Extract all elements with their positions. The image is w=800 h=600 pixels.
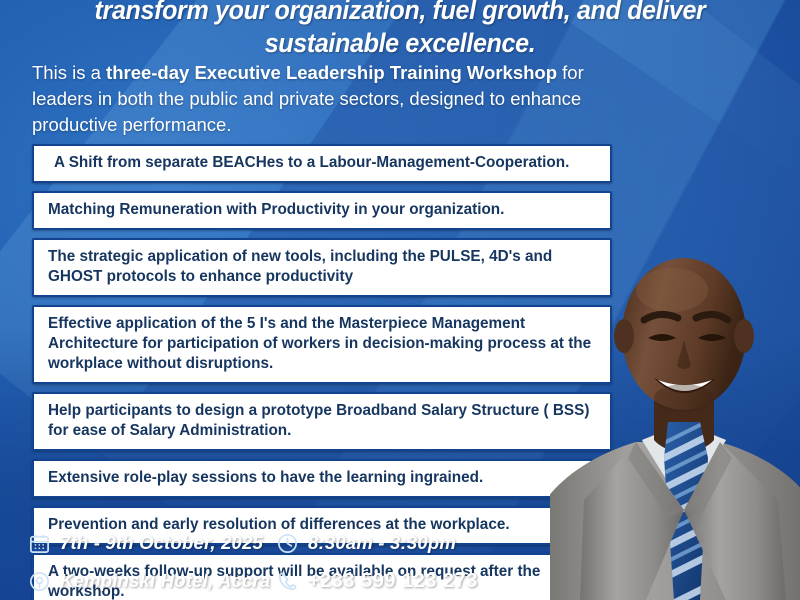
bullet-card: A Shift from separate BEACHes to a Labou… xyxy=(32,144,612,183)
bullet-card: The strategic application of new tools, … xyxy=(32,238,612,297)
calendar-icon xyxy=(28,532,51,555)
flyer-poster: transform your organization, fuel growth… xyxy=(0,0,800,600)
footer-phone: +233 599 123 273 xyxy=(276,570,478,593)
headline: transform your organization, fuel growth… xyxy=(28,0,772,60)
bullet-card: Extensive role-play sessions to have the… xyxy=(32,459,612,498)
footer-venue: Kempinski Hotel, Accra xyxy=(28,570,276,593)
speaker-photo xyxy=(550,208,800,600)
bullet-card: Matching Remuneration with Productivity … xyxy=(32,191,612,230)
time-value: 8:30am - 3:30pm xyxy=(308,532,456,554)
phone-value: +233 599 123 273 xyxy=(308,570,478,593)
footer-row-secondary: Kempinski Hotel, Accra +233 599 123 273 xyxy=(28,562,548,600)
intro-paragraph: This is a three-day Executive Leadership… xyxy=(32,60,622,138)
venue-value: Kempinski Hotel, Accra xyxy=(60,570,270,592)
bullet-card: Help participants to design a prototype … xyxy=(32,392,612,451)
phone-icon xyxy=(276,570,299,593)
intro-emphasis: three-day Executive Leadership Training … xyxy=(106,62,557,83)
bullet-card: Effective application of the 5 I's and t… xyxy=(32,305,612,384)
location-pin-icon xyxy=(28,570,51,593)
footer-info: 7th - 9th October, 2025 8:30am - 3:30pm xyxy=(28,524,548,600)
footer-time: 8:30am - 3:30pm xyxy=(276,532,456,555)
clock-icon xyxy=(276,532,299,555)
footer-date: 7th - 9th October, 2025 xyxy=(28,532,276,555)
footer-row-primary: 7th - 9th October, 2025 8:30am - 3:30pm xyxy=(28,524,548,562)
intro-lead: This is a xyxy=(32,62,106,83)
date-value: 7th - 9th October, 2025 xyxy=(60,532,263,554)
